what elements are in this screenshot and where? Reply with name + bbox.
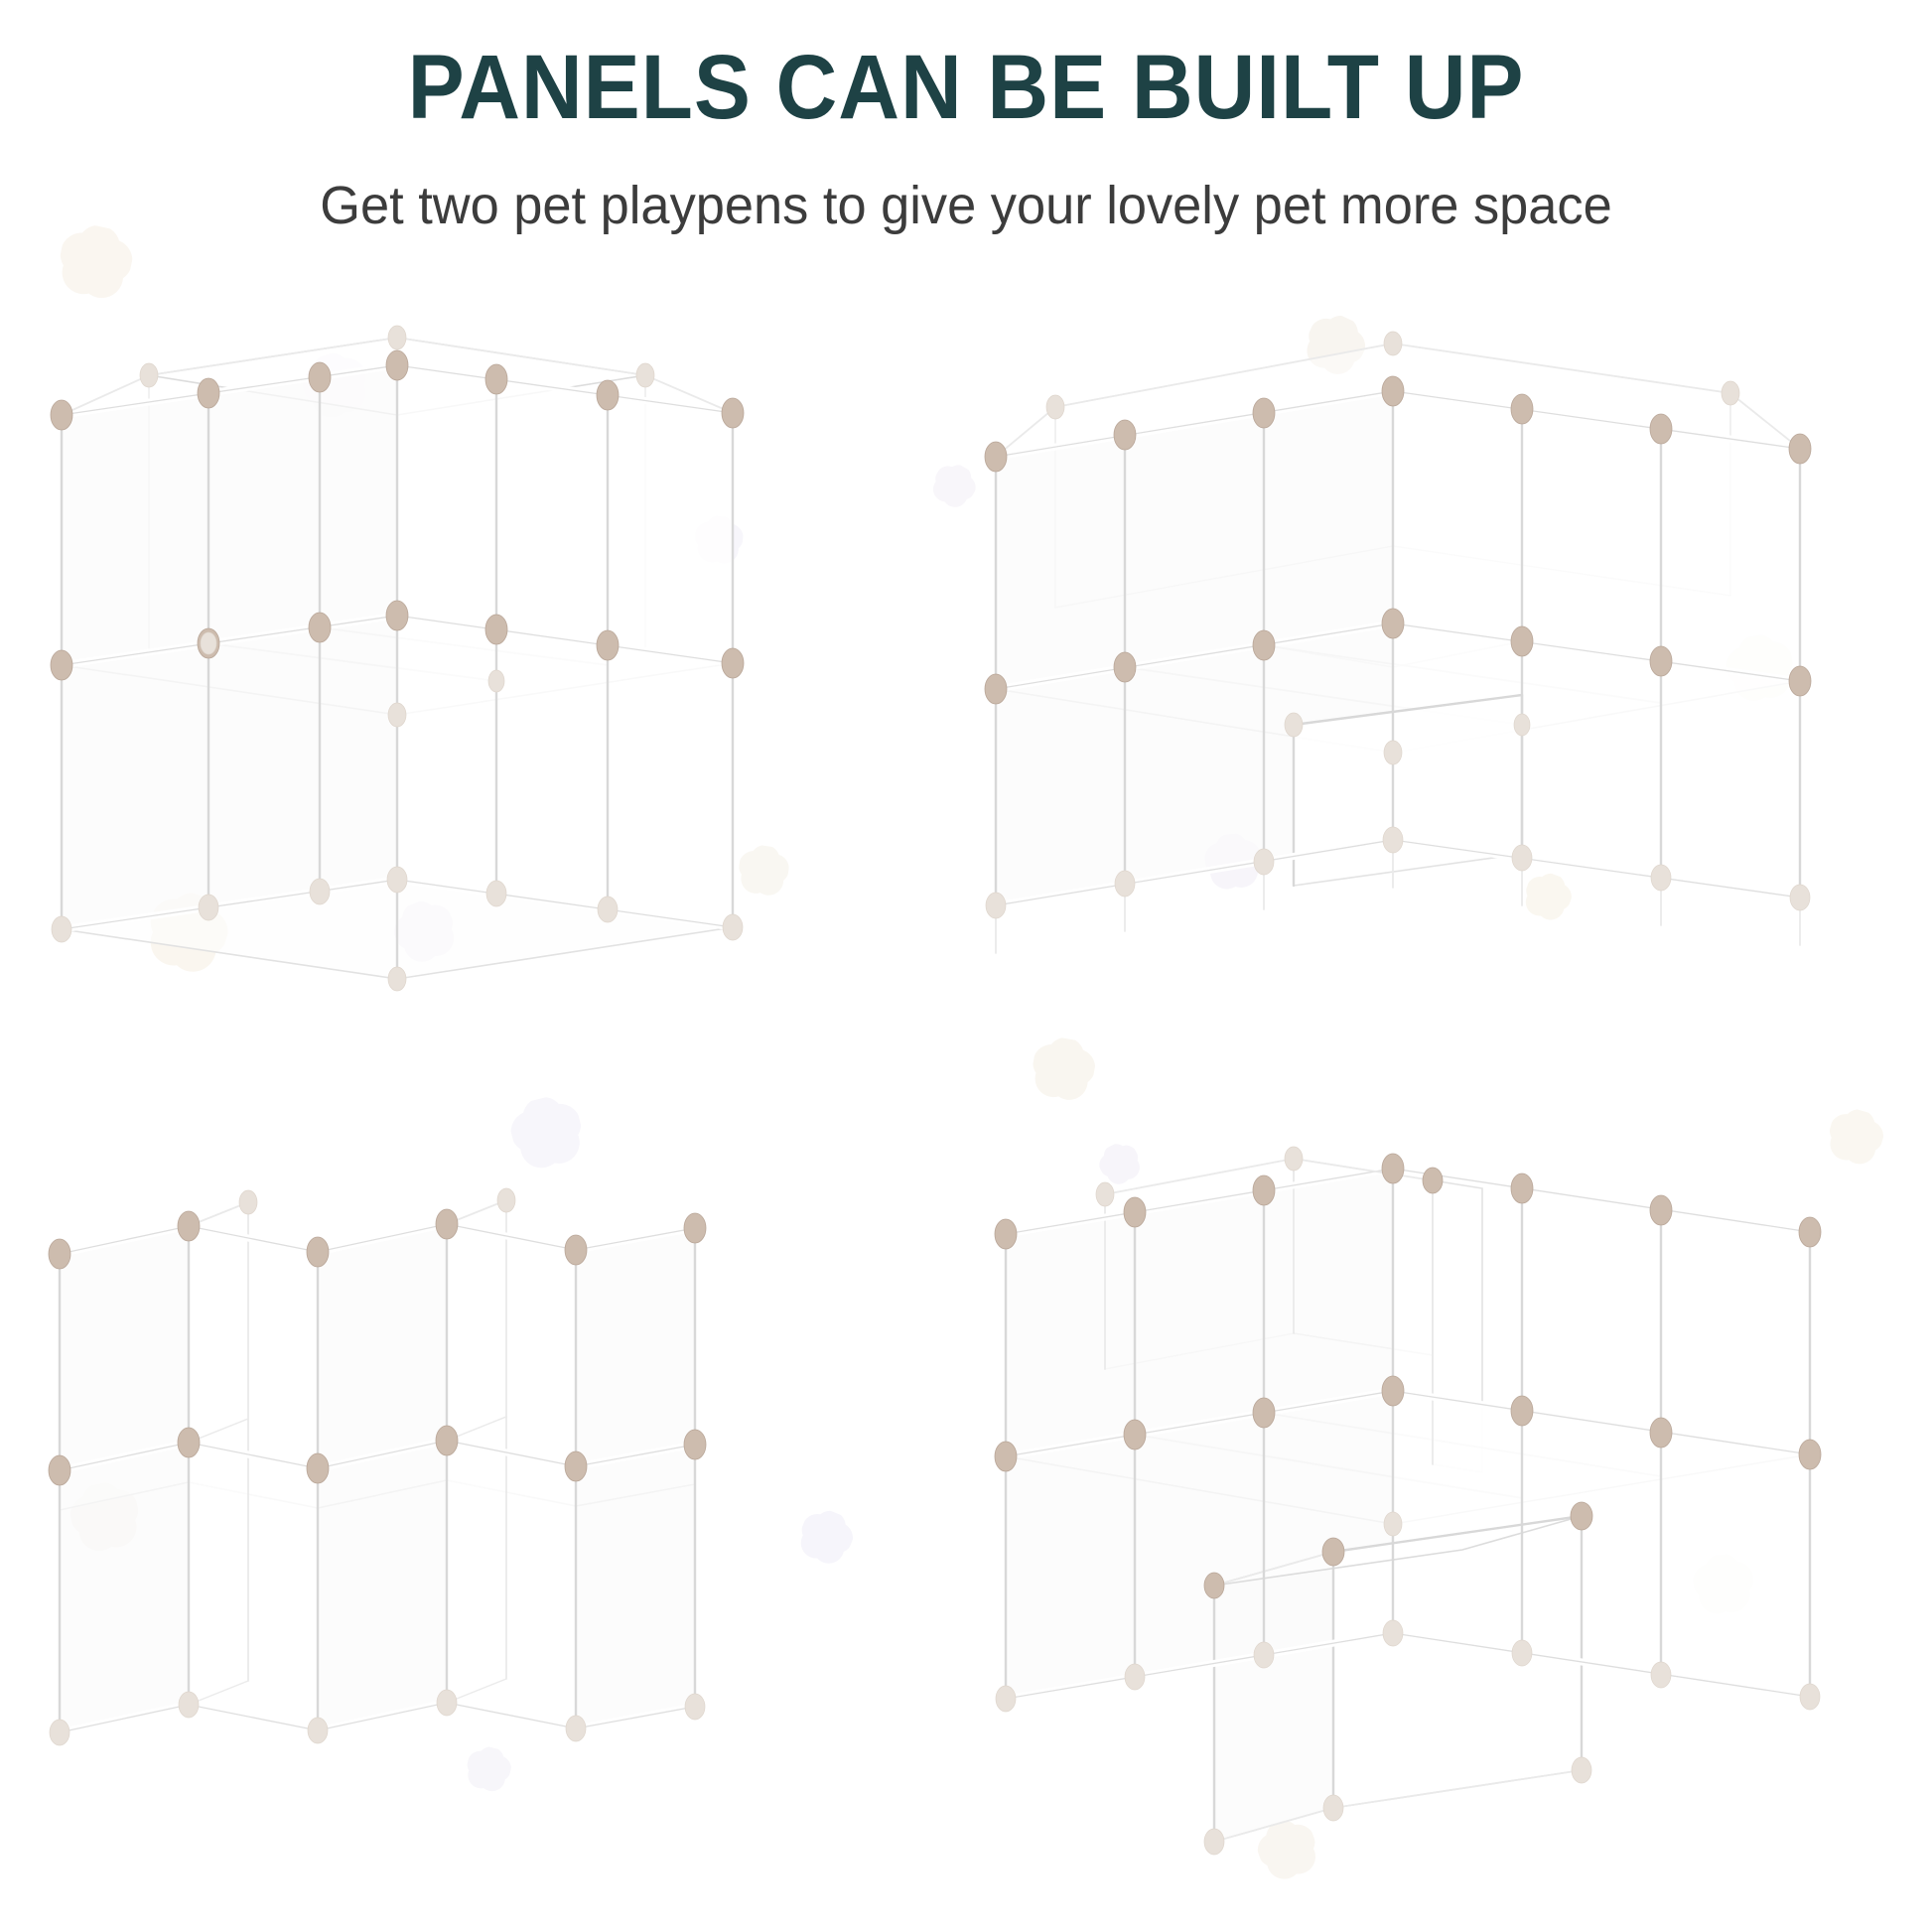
playpen-illustration — [995, 1147, 1821, 1855]
product-image-playpen-zigzag-open — [0, 1115, 966, 1932]
product-image-grid — [0, 298, 1932, 1932]
page-subtitle: Get two pet playpens to give your lovely… — [29, 133, 1903, 232]
playpen-illustration — [985, 332, 1811, 953]
playpen-illustration — [51, 326, 744, 991]
flower-watermark-icon — [53, 219, 137, 304]
playpen-illustration — [49, 1188, 706, 1745]
header: PANELS CAN BE BUILT UP Get two pet playp… — [0, 0, 1932, 232]
product-image-playpen-multi-room — [966, 1115, 1932, 1932]
product-image-playpen-two-tier-wide — [966, 298, 1932, 1115]
page-title: PANELS CAN BE BUILT UP — [68, 0, 1864, 133]
product-image-playpen-two-tier-square — [0, 298, 966, 1115]
